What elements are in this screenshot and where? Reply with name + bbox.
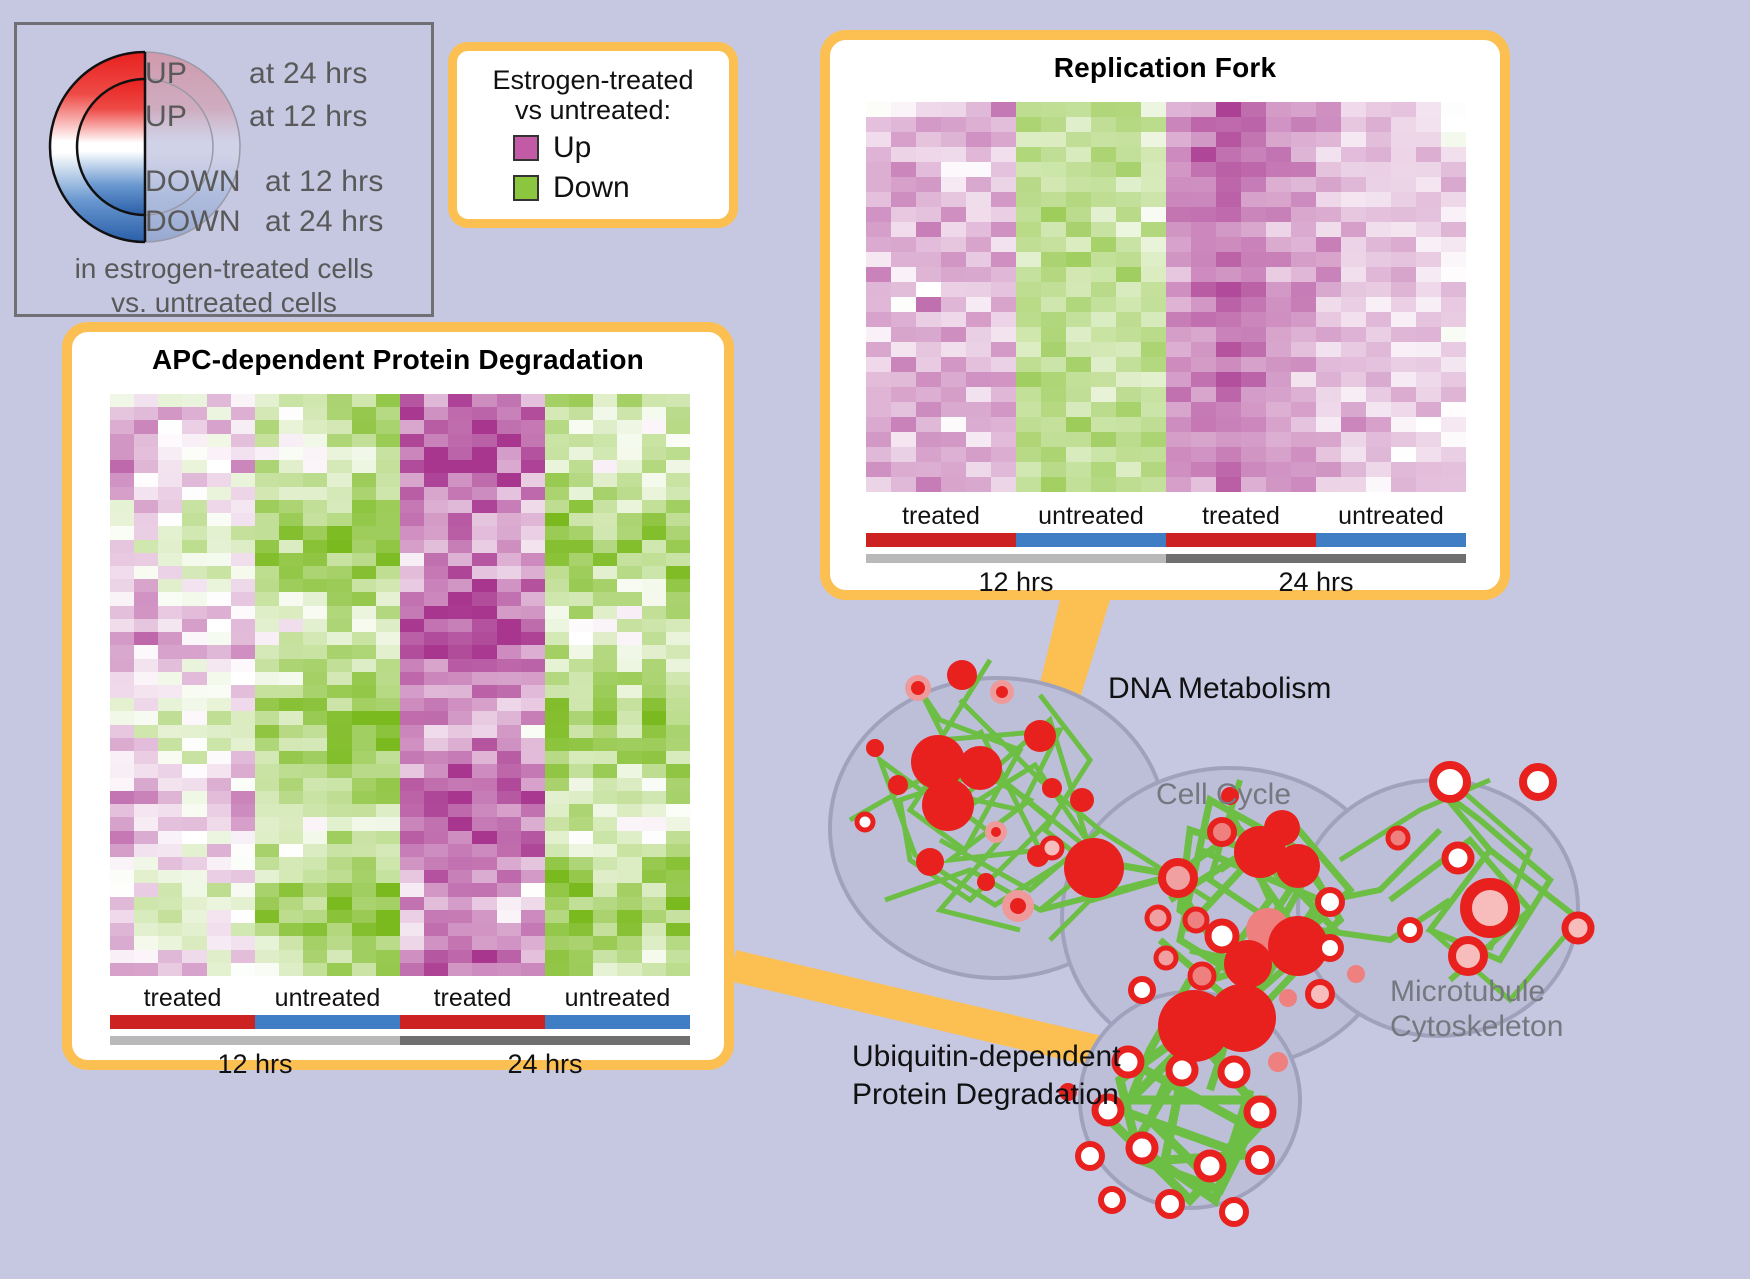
heatmap-cell — [1066, 432, 1091, 447]
heatmap-cell — [617, 950, 641, 963]
heatmap-cell — [569, 473, 593, 486]
heatmap-cell — [1166, 357, 1191, 372]
heatmap-cell — [1091, 222, 1116, 237]
heatmap-cell — [327, 659, 351, 672]
heatmap-cell — [1266, 477, 1291, 492]
heatmap-cell — [327, 645, 351, 658]
network-node[interactable] — [1264, 810, 1300, 846]
heatmap-cell — [1241, 267, 1266, 282]
heatmap-cell — [182, 659, 206, 672]
network-node[interactable] — [1169, 1057, 1195, 1083]
heatmap-cell — [303, 659, 327, 672]
network-node[interactable] — [1268, 1052, 1288, 1072]
heatmap-cell — [207, 817, 231, 830]
heatmap-cell — [158, 632, 182, 645]
heatmap-cell — [303, 420, 327, 433]
heatmap-cell — [569, 434, 593, 447]
heatmap-cell — [352, 566, 376, 579]
heatmap-cell — [1391, 432, 1416, 447]
heatmap-cell — [279, 672, 303, 685]
heatmap-cell — [207, 487, 231, 500]
heatmap-cell — [472, 698, 496, 711]
network-node[interactable] — [1158, 1192, 1182, 1216]
network-node[interactable] — [922, 779, 974, 831]
heatmap-cell — [352, 751, 376, 764]
network-node[interactable] — [1400, 920, 1420, 940]
heatmap-cell — [376, 844, 400, 857]
heatmap-cell — [279, 473, 303, 486]
heatmap-cell — [497, 725, 521, 738]
heatmap-cell — [182, 804, 206, 817]
heatmap-cell — [303, 963, 327, 976]
heatmap-cell — [327, 553, 351, 566]
heatmap-cell — [303, 487, 327, 500]
heatmap-cell — [866, 357, 891, 372]
heatmap-cell — [1216, 342, 1241, 357]
heatmap-cell — [1066, 132, 1091, 147]
heatmap-cell — [593, 923, 617, 936]
legend-title-line2: vs untreated: — [457, 95, 729, 125]
heatmap-cell — [866, 462, 891, 477]
heatmap-cell — [231, 923, 255, 936]
network-node[interactable] — [1221, 1059, 1247, 1085]
heatmap-cell — [1116, 357, 1141, 372]
heatmap-cell — [1016, 477, 1041, 492]
network-node[interactable] — [977, 873, 995, 891]
heatmap-cell — [545, 870, 569, 883]
heatmap-cell — [1241, 477, 1266, 492]
heatmap-cell — [1166, 312, 1191, 327]
heatmap-cell — [327, 870, 351, 883]
apc-time-bars — [110, 1036, 690, 1045]
heatmap-cell — [448, 910, 472, 923]
network-node[interactable] — [1162, 862, 1194, 894]
network-node[interactable] — [1523, 767, 1553, 797]
heatmap-cell — [545, 778, 569, 791]
heatmap-cell — [255, 831, 279, 844]
heatmap-cell — [1366, 162, 1391, 177]
heatmap-cell — [1191, 282, 1216, 297]
heatmap-cell — [545, 632, 569, 645]
heatmap-cell — [110, 460, 134, 473]
heatmap-cell — [593, 487, 617, 500]
network-node[interactable] — [1388, 828, 1408, 848]
heatmap-cell — [448, 883, 472, 896]
heatmap-cell — [231, 870, 255, 883]
network-node[interactable] — [1210, 820, 1234, 844]
heatmap-cell — [891, 447, 916, 462]
heatmap-cell — [1291, 237, 1316, 252]
heatmap-cell — [642, 592, 666, 605]
heatmap-cell — [255, 500, 279, 513]
heatmap-cell — [1416, 192, 1441, 207]
heatmap-cell — [1341, 387, 1366, 402]
heatmap-cell — [966, 297, 991, 312]
heatmap-cell — [472, 963, 496, 976]
heatmap-cell — [279, 857, 303, 870]
heatmap-cell — [569, 831, 593, 844]
heatmap-cell — [1241, 177, 1266, 192]
heatmap-cell — [231, 579, 255, 592]
heatmap-cell — [545, 897, 569, 910]
heatmap-cell — [327, 606, 351, 619]
heatmap-cell — [497, 936, 521, 949]
heatmap-cell — [593, 685, 617, 698]
heatmap-cell — [400, 632, 424, 645]
heatmap-cell — [521, 619, 545, 632]
heatmap-cell — [1441, 417, 1466, 432]
heatmap-cell — [1341, 282, 1366, 297]
heatmap-cell — [1016, 357, 1041, 372]
heatmap-cell — [1291, 162, 1316, 177]
heatmap-cell — [207, 434, 231, 447]
network-node[interactable] — [1131, 979, 1153, 1001]
network-node[interactable] — [1445, 845, 1471, 871]
treated-bar — [1166, 533, 1316, 547]
heatmap-cell — [376, 606, 400, 619]
heatmap-cell — [545, 923, 569, 936]
heatmap-cell — [1241, 207, 1266, 222]
heatmap-cell — [472, 407, 496, 420]
network-node[interactable] — [1248, 1148, 1272, 1172]
heatmap-cell — [497, 791, 521, 804]
network-node[interactable] — [1129, 1135, 1155, 1161]
heatmap-cell — [327, 778, 351, 791]
heatmap-cell — [1066, 207, 1091, 222]
network-node[interactable] — [1042, 838, 1062, 858]
network-node[interactable] — [1224, 940, 1272, 988]
network-node[interactable] — [1190, 964, 1214, 988]
heatmap-cell — [472, 473, 496, 486]
network-node[interactable] — [1276, 844, 1320, 888]
heatmap-cell — [1341, 462, 1366, 477]
heatmap-cell — [110, 672, 134, 685]
heatmap-cell — [207, 447, 231, 460]
heatmap-cell — [231, 619, 255, 632]
heatmap-cell — [303, 870, 327, 883]
heatmap-cell — [666, 606, 690, 619]
heatmap-cell — [376, 500, 400, 513]
heatmap-cell — [497, 540, 521, 553]
heatmap-cell — [255, 817, 279, 830]
heatmap-cell — [1391, 252, 1416, 267]
heatmap-cell — [327, 460, 351, 473]
network-node[interactable] — [947, 660, 977, 690]
up-swatch-icon — [513, 135, 539, 161]
heatmap-cell — [521, 420, 545, 433]
network-node[interactable] — [1024, 720, 1056, 752]
key-row-2-time: at 12 hrs — [265, 165, 384, 199]
network-node[interactable] — [1070, 788, 1094, 812]
heatmap-cell — [110, 950, 134, 963]
heatmap-cell — [666, 592, 690, 605]
heatmap-cell — [569, 950, 593, 963]
heatmap-cell — [231, 434, 255, 447]
heatmap-cell — [376, 619, 400, 632]
condition-label: untreated — [1316, 502, 1466, 531]
replication-fork-condition-bars — [866, 533, 1466, 547]
heatmap-cell — [110, 645, 134, 658]
heatmap-cell — [303, 619, 327, 632]
heatmap-cell — [545, 606, 569, 619]
heatmap-cell — [448, 711, 472, 724]
network-node[interactable] — [1466, 884, 1514, 932]
heatmap-cell — [891, 327, 916, 342]
network-node[interactable] — [1064, 838, 1124, 898]
heatmap-cell — [1391, 417, 1416, 432]
heatmap-cell — [376, 632, 400, 645]
heatmap-cell — [497, 513, 521, 526]
heatmap-cell — [352, 447, 376, 460]
heatmap-cell — [666, 897, 690, 910]
heatmap-cell — [303, 394, 327, 407]
network-node[interactable] — [958, 746, 1002, 790]
network-node[interactable] — [888, 775, 908, 795]
heatmap-cell — [400, 910, 424, 923]
network-node[interactable] — [1101, 1189, 1123, 1211]
heatmap-cell — [400, 844, 424, 857]
heatmap-cell — [400, 619, 424, 632]
heatmap-cell — [521, 592, 545, 605]
heatmap-cell — [1366, 282, 1391, 297]
heatmap-cell — [666, 447, 690, 460]
heatmap-cell — [1416, 312, 1441, 327]
key-footer-line1: in estrogen-treated cells — [17, 253, 431, 285]
heatmap-cell — [1366, 117, 1391, 132]
heatmap-cell — [1141, 447, 1166, 462]
heatmap-cell — [352, 487, 376, 500]
heatmap-cell — [279, 500, 303, 513]
heatmap-cell — [158, 606, 182, 619]
heatmap-cell — [1266, 237, 1291, 252]
heatmap-cell — [158, 500, 182, 513]
heatmap-cell — [941, 462, 966, 477]
heatmap-cell — [1266, 357, 1291, 372]
replication-fork-conditions: treated untreated treated untreated — [866, 502, 1466, 531]
heatmap-cell — [866, 237, 891, 252]
heatmap-cell — [110, 817, 134, 830]
heatmap-cell — [991, 357, 1016, 372]
heatmap-cell — [472, 910, 496, 923]
heatmap-cell — [400, 566, 424, 579]
network-node[interactable] — [857, 814, 873, 830]
heatmap-cell — [1241, 417, 1266, 432]
heatmap-cell — [1266, 147, 1291, 162]
heatmap-cell — [521, 553, 545, 566]
heatmap-cell — [1441, 402, 1466, 417]
network-node[interactable] — [1208, 922, 1236, 950]
heatmap-cell — [521, 540, 545, 553]
network-node[interactable] — [1156, 948, 1176, 968]
heatmap-cell — [1216, 432, 1241, 447]
heatmap-cell — [569, 672, 593, 685]
heatmap-cell — [376, 950, 400, 963]
heatmap-cell — [1166, 207, 1191, 222]
heatmap-cell — [497, 659, 521, 672]
heatmap-cell — [1216, 282, 1241, 297]
heatmap-cell — [1416, 267, 1441, 282]
network-node[interactable] — [866, 739, 884, 757]
heatmap-cell — [497, 738, 521, 751]
heatmap-cell — [400, 500, 424, 513]
heatmap-cell — [593, 804, 617, 817]
heatmap-cell — [303, 540, 327, 553]
heatmap-cell — [134, 672, 158, 685]
heatmap-cell — [569, 817, 593, 830]
heatmap-cell — [158, 791, 182, 804]
heatmap-cell — [1366, 462, 1391, 477]
network-node[interactable] — [1319, 937, 1341, 959]
heatmap-cell — [521, 844, 545, 857]
heatmap-cell — [376, 764, 400, 777]
heatmap-cell — [472, 672, 496, 685]
heatmap-cell — [158, 473, 182, 486]
network-node[interactable] — [1279, 989, 1297, 1007]
network-node[interactable] — [1222, 1200, 1246, 1224]
heatmap-cell — [991, 237, 1016, 252]
heatmap-cell — [1091, 477, 1116, 492]
network-node[interactable] — [1247, 1099, 1273, 1125]
heatmap-cell — [472, 778, 496, 791]
heatmap-cell — [448, 645, 472, 658]
heatmap-cell — [182, 619, 206, 632]
heatmap-cell — [1141, 297, 1166, 312]
heatmap-cell — [158, 579, 182, 592]
heatmap-cell — [231, 725, 255, 738]
heatmap-cell — [134, 804, 158, 817]
network-node[interactable] — [1042, 778, 1062, 798]
heatmap-cell — [1216, 417, 1241, 432]
heatmap-cell — [207, 592, 231, 605]
heatmap-cell — [327, 526, 351, 539]
heatmap-cell — [642, 738, 666, 751]
network-node[interactable] — [1147, 907, 1169, 929]
heatmap-cell — [617, 619, 641, 632]
heatmap-cell — [866, 282, 891, 297]
heatmap-cell — [231, 513, 255, 526]
network-node[interactable] — [1433, 765, 1467, 799]
heatmap-cell — [941, 237, 966, 252]
heatmap-cell — [642, 407, 666, 420]
heatmap-cell — [110, 870, 134, 883]
network-node[interactable] — [1308, 982, 1332, 1006]
heatmap-cell — [569, 923, 593, 936]
heatmap-cell — [666, 553, 690, 566]
heatmap-cell — [642, 659, 666, 672]
heatmap-cell — [1041, 312, 1066, 327]
network-node[interactable] — [1197, 1153, 1223, 1179]
network-node[interactable] — [1185, 909, 1207, 931]
heatmap-cell — [207, 632, 231, 645]
heatmap-cell — [1366, 192, 1391, 207]
heatmap-cell — [966, 102, 991, 117]
heatmap-cell — [352, 672, 376, 685]
heatmap-cell — [303, 460, 327, 473]
heatmap-cell — [400, 857, 424, 870]
heatmap-cell — [1041, 462, 1066, 477]
heatmap-cell — [424, 883, 448, 896]
heatmap-cell — [134, 460, 158, 473]
heatmap-cell — [1341, 207, 1366, 222]
heatmap-cell — [593, 791, 617, 804]
heatmap-cell — [352, 883, 376, 896]
heatmap-cell — [1191, 387, 1216, 402]
network-node[interactable] — [1158, 990, 1230, 1062]
heatmap-cell — [593, 619, 617, 632]
heatmap-cell — [207, 963, 231, 976]
heatmap-cell — [569, 553, 593, 566]
heatmap-cell — [279, 420, 303, 433]
network-node[interactable] — [916, 848, 944, 876]
heatmap-cell — [1041, 372, 1066, 387]
heatmap-cell — [617, 473, 641, 486]
heatmap-cell — [497, 910, 521, 923]
heatmap-cell — [1241, 312, 1266, 327]
heatmap-cell — [521, 579, 545, 592]
network-node[interactable] — [1565, 915, 1591, 941]
heatmap-cell — [1066, 402, 1091, 417]
heatmap-cell — [966, 312, 991, 327]
heatmap-cell — [891, 237, 916, 252]
heatmap-cell — [134, 844, 158, 857]
heatmap-cell — [158, 910, 182, 923]
heatmap-cell — [642, 619, 666, 632]
heatmap-cell — [617, 434, 641, 447]
network-node[interactable] — [1078, 1144, 1102, 1168]
heatmap-cell — [966, 357, 991, 372]
network-node[interactable] — [1452, 940, 1484, 972]
heatmap-cell — [941, 132, 966, 147]
heatmap-cell — [1241, 342, 1266, 357]
heatmap-cell — [1391, 447, 1416, 462]
heatmap-cell — [569, 500, 593, 513]
heatmap-cell — [866, 297, 891, 312]
heatmap-cell — [448, 566, 472, 579]
heatmap-cell — [521, 447, 545, 460]
heatmap-cell — [1291, 402, 1316, 417]
heatmap-cell — [916, 447, 941, 462]
heatmap-cell — [303, 500, 327, 513]
heatmap-cell — [593, 870, 617, 883]
heatmap-cell — [231, 526, 255, 539]
heatmap-cell — [255, 540, 279, 553]
heatmap-cell — [1066, 252, 1091, 267]
heatmap-cell — [472, 434, 496, 447]
heatmap-cell — [1116, 342, 1141, 357]
heatmap-cell — [1091, 147, 1116, 162]
heatmap-cell — [110, 592, 134, 605]
heatmap-cell — [448, 500, 472, 513]
heatmap-cell — [593, 897, 617, 910]
heatmap-cell — [424, 711, 448, 724]
heatmap-cell — [424, 685, 448, 698]
heatmap-cell — [231, 553, 255, 566]
heatmap-cell — [110, 606, 134, 619]
heatmap-cell — [866, 312, 891, 327]
network-node[interactable] — [1318, 890, 1342, 914]
heatmap-cell — [666, 764, 690, 777]
heatmap-cell — [279, 897, 303, 910]
network-node[interactable] — [1347, 965, 1365, 983]
heatmap-cell — [279, 619, 303, 632]
heatmap-cell — [1241, 252, 1266, 267]
heatmap-cell — [400, 487, 424, 500]
heatmap-cell — [966, 132, 991, 147]
heatmap-cell — [279, 460, 303, 473]
heatmap-cell — [279, 711, 303, 724]
heatmap-cell — [1316, 147, 1341, 162]
label-cytoskeleton: Cytoskeleton — [1390, 1010, 1563, 1043]
